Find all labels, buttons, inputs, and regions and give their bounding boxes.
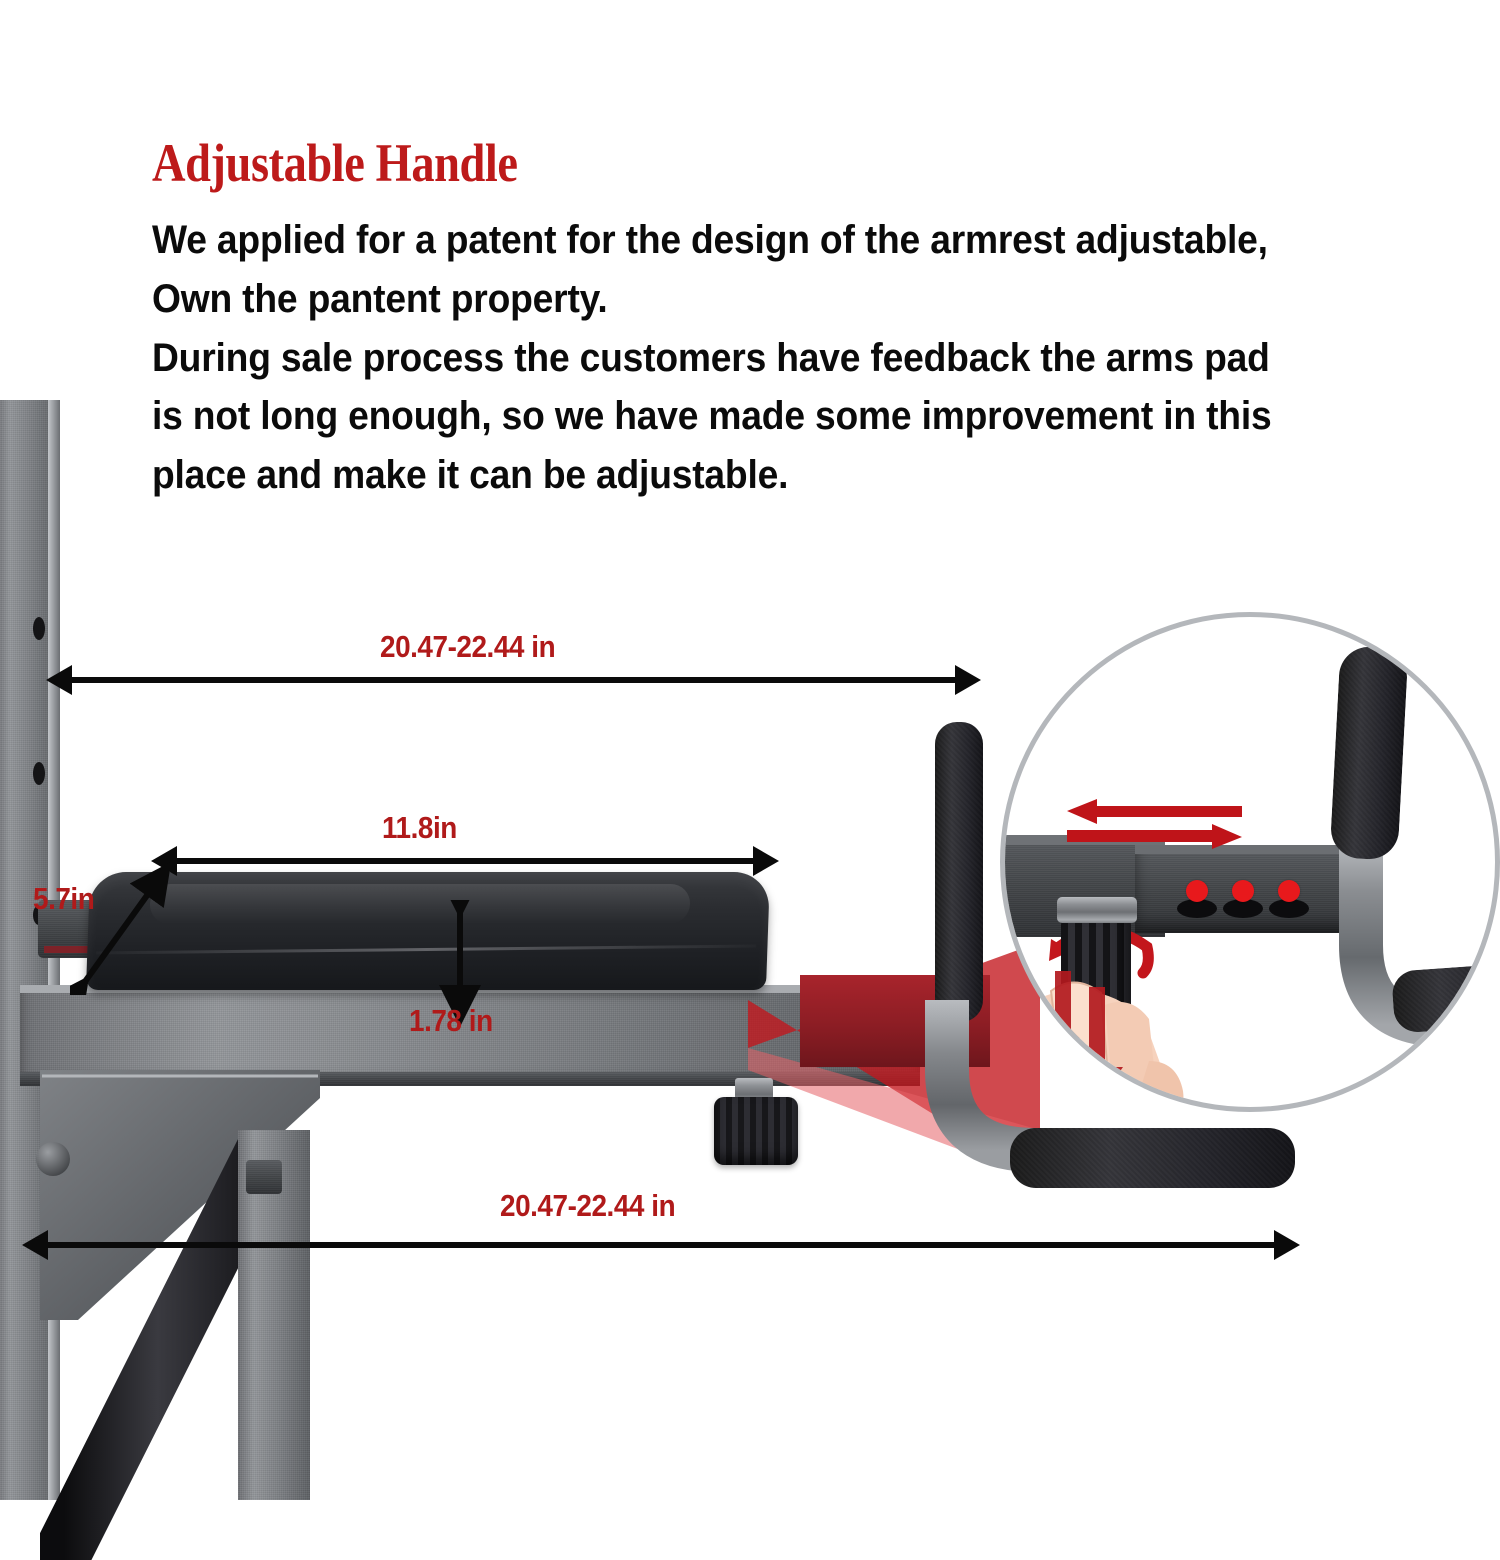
description-line-3: During sale process the customers have f… xyxy=(152,330,1324,387)
armrest-pad-highlight xyxy=(149,884,690,924)
upright-post-hole-lower xyxy=(33,762,45,785)
dimension-arrow-top-left-head xyxy=(46,665,72,695)
description-line-2: Own the pantent property. xyxy=(152,271,1324,328)
inset-foam-grip-lower xyxy=(1391,962,1500,1033)
inset-foam-grip-upper xyxy=(1329,645,1408,860)
dimension-arrow-pad-height xyxy=(70,855,200,995)
knob-push-arrow xyxy=(1037,969,1157,1109)
dimension-label-top-span: 20.47-22.44 in xyxy=(380,629,555,665)
dimension-arrow-bottom-line xyxy=(36,1242,1288,1248)
handle-foam-grip-upper xyxy=(935,722,983,1022)
dimension-arrow-top-line xyxy=(58,677,973,683)
hole-marker-dot-3 xyxy=(1278,880,1300,902)
description-line-5: place and make it can be adjustable. xyxy=(152,447,1324,504)
hole-marker-dot-2 xyxy=(1232,880,1254,902)
dimension-label-pad-length: 11.8in xyxy=(382,810,457,846)
description-line-4: is not long enough, so we have made some… xyxy=(152,388,1324,445)
page-title: Adjustable Handle xyxy=(152,136,518,190)
dimension-label-pad-thickness: 1.78 in xyxy=(409,1003,493,1039)
inset-knob-collar xyxy=(1057,897,1137,923)
hole-marker-dot-1 xyxy=(1186,880,1208,902)
secondary-upright-bracket xyxy=(246,1160,282,1194)
slide-direction-arrow xyxy=(1067,799,1242,849)
dimension-arrow-bottom-left-head xyxy=(22,1230,48,1260)
magnifier-inset xyxy=(1000,612,1500,1112)
dimension-arrow-bottom-right-head xyxy=(1274,1230,1300,1260)
brace-pivot-bolt xyxy=(36,1142,70,1176)
dimension-arrow-top-right-head xyxy=(955,665,981,695)
handle-foam-grip-lower xyxy=(1010,1128,1295,1188)
dimension-label-bottom-span: 20.47-22.44 in xyxy=(500,1188,675,1224)
adjustment-knob[interactable] xyxy=(714,1097,798,1165)
inset-curved-handle-tube xyxy=(1325,827,1500,1087)
black-diagonal-tube xyxy=(40,1130,360,1560)
dimension-label-pad-height: 5.7in xyxy=(33,881,94,917)
description-line-1: We applied for a patent for the design o… xyxy=(152,212,1324,269)
dimension-arrow-pad-length-right-head xyxy=(753,846,779,876)
dimension-arrow-pad-length-line xyxy=(163,858,771,864)
upright-post-hole-upper xyxy=(33,617,45,640)
description-text: We applied for a patent for the design o… xyxy=(152,212,1324,506)
